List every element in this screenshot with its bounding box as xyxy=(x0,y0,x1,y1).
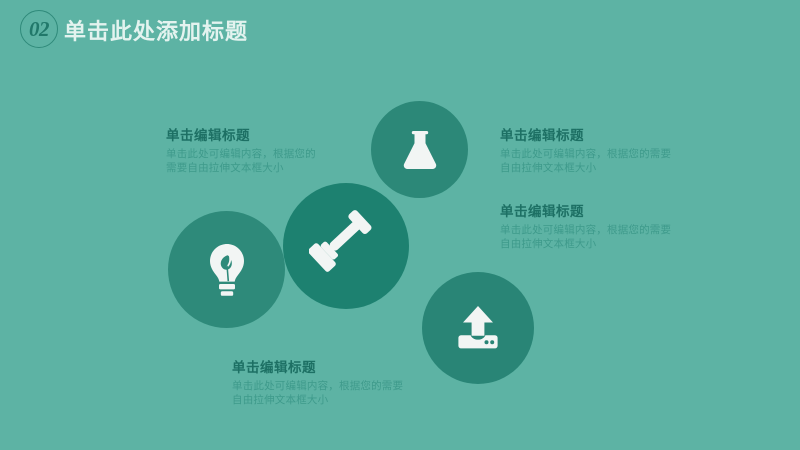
text-block-right-upper-body: 单击此处可编辑内容，根据您的需要自由拉伸文本框大小 xyxy=(500,147,672,175)
upload-icon xyxy=(453,304,503,352)
text-block-left: 单击编辑标题 单击此处可编辑内容，根据您的需要自由拉伸文本框大小 xyxy=(166,124,316,175)
text-block-left-body: 单击此处可编辑内容，根据您的需要自由拉伸文本框大小 xyxy=(166,147,316,175)
slide-header: 02 单击此处添加标题 xyxy=(0,0,800,58)
bubble-left-lightbulb[interactable] xyxy=(168,211,285,328)
bubble-bottom-upload[interactable] xyxy=(422,272,534,384)
text-block-right-lower-body: 单击此处可编辑内容，根据您的需要自由拉伸文本框大小 xyxy=(500,223,672,251)
lightbulb-leaf-icon xyxy=(206,243,248,297)
text-block-bottom-title: 单击编辑标题 xyxy=(232,356,407,376)
bubble-top-flask[interactable] xyxy=(371,101,468,198)
section-number-badge: 02 xyxy=(20,10,58,48)
text-block-bottom: 单击编辑标题 单击此处可编辑内容，根据您的需要自由拉伸文本框大小 xyxy=(232,356,407,407)
text-block-left-title: 单击编辑标题 xyxy=(166,124,316,144)
gavel-icon xyxy=(309,209,383,283)
text-block-right-lower-title: 单击编辑标题 xyxy=(500,200,672,220)
flask-icon xyxy=(401,129,439,171)
page-title: 单击此处添加标题 xyxy=(64,14,248,46)
bubble-center-gavel[interactable] xyxy=(283,183,409,309)
text-block-right-upper-title: 单击编辑标题 xyxy=(500,124,672,144)
text-block-right-lower: 单击编辑标题 单击此处可编辑内容，根据您的需要自由拉伸文本框大小 xyxy=(500,200,672,251)
text-block-right-upper: 单击编辑标题 单击此处可编辑内容，根据您的需要自由拉伸文本框大小 xyxy=(500,124,672,175)
text-block-bottom-body: 单击此处可编辑内容，根据您的需要自由拉伸文本框大小 xyxy=(232,379,407,407)
slide-canvas: 02 单击此处添加标题 xyxy=(0,0,800,450)
